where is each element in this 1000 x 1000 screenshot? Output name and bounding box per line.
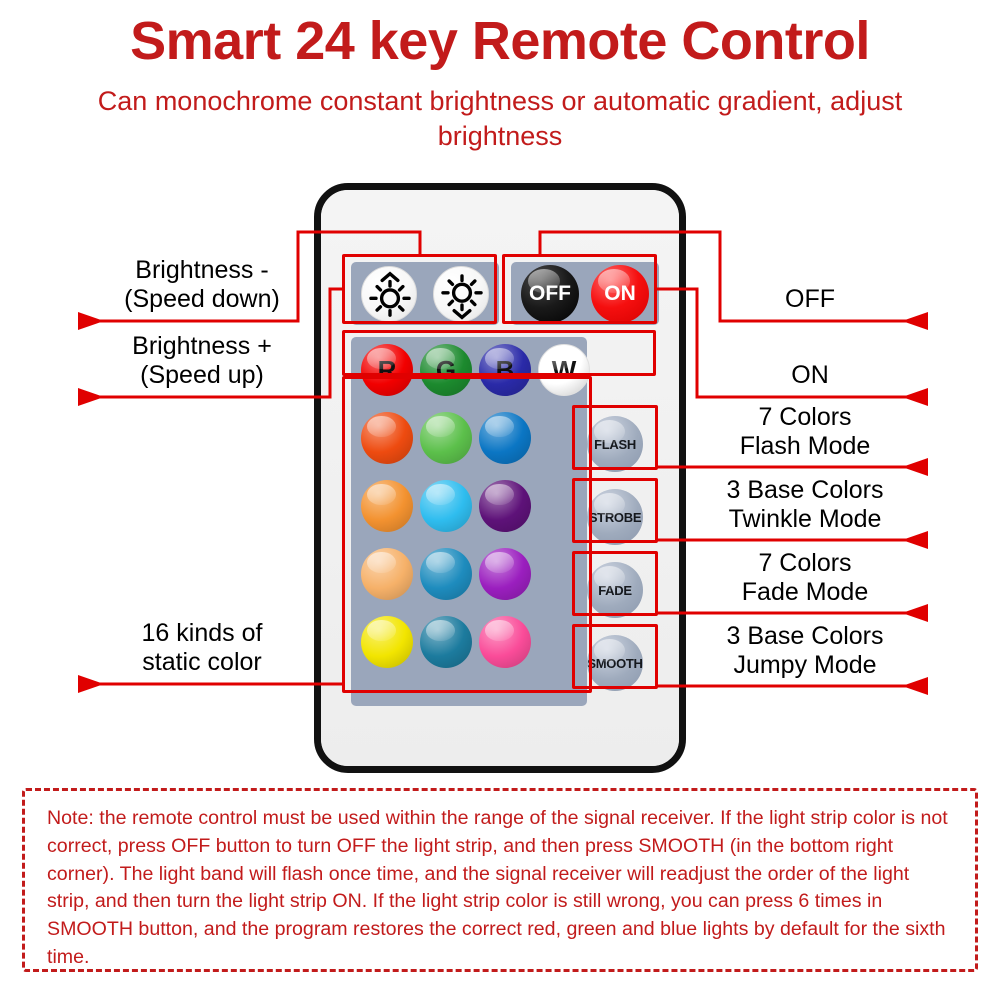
brightness-up-callout: Brightness + (Speed up) (92, 332, 312, 390)
brightness-down-callout: Brightness - (Speed down) (92, 256, 312, 314)
strobe-callout: 3 Base Colors Twinkle Mode (690, 476, 920, 534)
note-text: Note: the remote control must be used wi… (47, 805, 953, 972)
off-callout: OFF (700, 285, 920, 314)
smooth-callout: 3 Base Colors Jumpy Mode (690, 622, 920, 680)
on-callout: ON (700, 361, 920, 390)
flash-callout: 7 Colors Flash Mode (690, 403, 920, 461)
note-box: Note: the remote control must be used wi… (22, 788, 978, 972)
infographic-root: Smart 24 key Remote Control Can monochro… (0, 0, 1000, 1000)
fade-callout: 7 Colors Fade Mode (690, 549, 920, 607)
static-color-callout: 16 kinds of static color (92, 619, 312, 677)
